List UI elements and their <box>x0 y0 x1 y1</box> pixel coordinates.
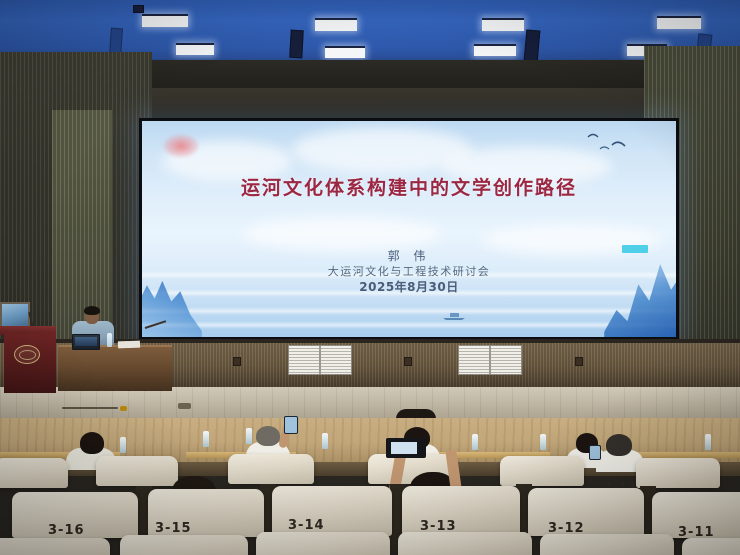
ceiling-light-panel <box>482 18 524 31</box>
air-vent <box>288 345 352 375</box>
seat-label-3-15: 3-15 <box>155 521 192 536</box>
slide-author: 郭 伟 <box>142 247 676 264</box>
smartphone <box>284 416 298 434</box>
water-bottle <box>322 433 328 449</box>
conference-hall-photo: 运河文化体系构建中的文学创作路径 郭 伟 大运河文化与工程技术研讨会 2025年… <box>0 0 740 555</box>
podium-emblem-icon <box>14 345 40 364</box>
water-bottle <box>472 434 478 450</box>
seat <box>636 458 720 488</box>
ceiling-light-panel <box>315 18 357 31</box>
camera-lcd-screen <box>391 442 417 454</box>
speaker-desk <box>58 345 172 391</box>
audience-person-head <box>256 426 280 446</box>
sun-icon <box>164 135 198 157</box>
wall-socket <box>575 357 583 366</box>
ceiling-light-panel <box>657 16 701 29</box>
water-bottle <box>120 437 126 453</box>
seat <box>540 534 674 555</box>
vent-divider <box>489 346 491 374</box>
mist-band <box>142 307 676 315</box>
ceiling-light-panel <box>325 46 365 58</box>
screen-soffit <box>128 88 656 118</box>
laptop <box>72 334 100 350</box>
presentation-slide: 运河文化体系构建中的文学创作路径 郭 伟 大运河文化与工程技术研讨会 2025年… <box>142 121 676 337</box>
cloud <box>242 217 442 251</box>
birds-icon <box>582 129 642 159</box>
camera <box>386 438 426 458</box>
seat <box>682 538 740 555</box>
ceiling-light-panel <box>176 43 214 55</box>
seat <box>256 532 390 555</box>
boat-icon <box>441 307 467 315</box>
stage-floor <box>0 387 740 421</box>
slide-date: 2025年8月30日 <box>142 278 676 295</box>
mist-band <box>142 321 676 329</box>
floor-cable <box>62 407 118 409</box>
ceiling-light-panel <box>474 44 516 56</box>
seat-label-3-16: 3-16 <box>48 523 85 538</box>
air-vent <box>458 345 522 375</box>
seat-3-12[interactable] <box>528 488 644 536</box>
audience-person-head <box>606 434 632 456</box>
papers <box>118 341 140 349</box>
ceiling-light-panel <box>142 14 188 27</box>
seat <box>0 538 110 555</box>
led-screen: 运河文化体系构建中的文学创作路径 郭 伟 大运河文化与工程技术研讨会 2025年… <box>139 118 679 340</box>
audience-person-head <box>80 432 104 454</box>
laptop-screen <box>75 337 97 346</box>
water-bottle <box>107 333 112 347</box>
water-bottle <box>246 428 252 444</box>
smartphone <box>589 445 601 460</box>
floor-object <box>178 403 191 409</box>
slide-title: 运河文化体系构建中的文学创作路径 <box>142 173 676 200</box>
water-bottle <box>705 434 711 450</box>
water-bottle <box>540 434 546 450</box>
water-bottle <box>203 431 209 447</box>
floor-object <box>120 406 127 411</box>
ceiling-sensor <box>133 5 144 13</box>
seat <box>398 532 532 555</box>
framed-picture <box>0 302 30 328</box>
wall-socket <box>404 357 412 366</box>
slide-event: 大运河文化与工程技术研讨会 <box>142 263 676 279</box>
seat-label-3-14: 3-14 <box>288 518 325 533</box>
speaker-hair <box>84 306 100 315</box>
seat <box>500 456 584 486</box>
seat <box>120 535 248 555</box>
seat <box>0 458 68 488</box>
seat <box>96 456 178 486</box>
ceiling-dark-panel <box>289 30 303 59</box>
wall-socket <box>233 357 241 366</box>
vent-divider <box>319 346 321 374</box>
seat <box>228 454 314 484</box>
